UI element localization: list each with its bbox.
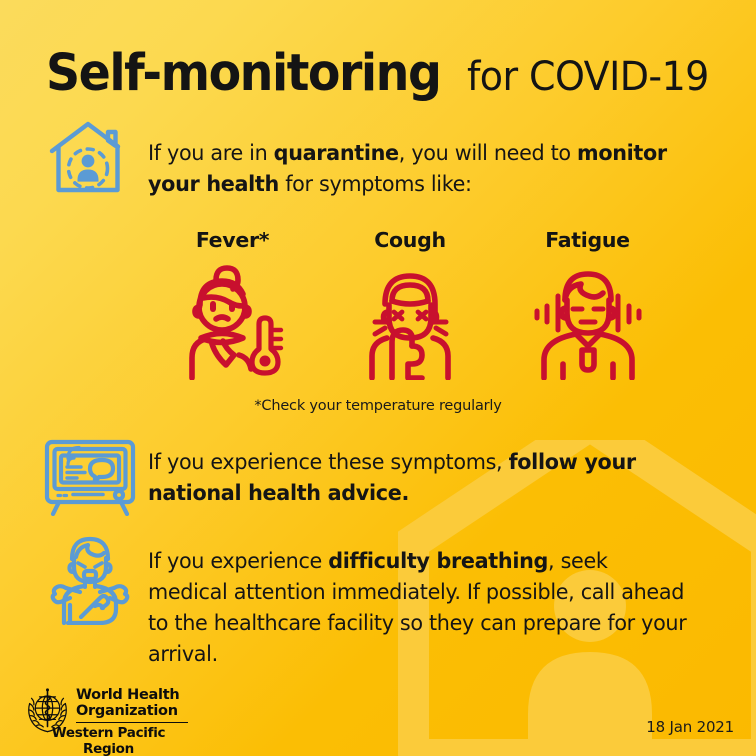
fever-footnote: *Check your temperature regularly bbox=[0, 398, 756, 414]
date-stamp: 18 Jan 2021 bbox=[646, 718, 734, 736]
who-region-label: Western Pacific Region bbox=[29, 725, 188, 756]
logo-divider bbox=[76, 722, 188, 724]
person-coughing-icon bbox=[354, 260, 466, 380]
title-light: for COVID-19 bbox=[467, 54, 709, 100]
who-logo: World Health Organization Western Pacifi… bbox=[24, 687, 188, 756]
page-title: Self-monitoringfor COVID-19 bbox=[46, 44, 726, 103]
person-fever-thermometer-icon bbox=[177, 260, 289, 380]
poster-canvas: Self-monitoringfor COVID-19 If you are i… bbox=[0, 0, 756, 756]
title-bold: Self-monitoring bbox=[46, 44, 440, 103]
who-name-line1: World Health bbox=[76, 688, 188, 704]
who-name-line2: Organization bbox=[76, 704, 188, 720]
row2-text: If you experience these symptoms, follow… bbox=[148, 447, 688, 509]
symptom-fatigue: Fatigue bbox=[505, 228, 670, 380]
symptom-label: Fever* bbox=[196, 228, 269, 252]
house-quarantine-icon bbox=[48, 120, 128, 196]
symptom-label: Fatigue bbox=[545, 228, 630, 252]
symptom-fever: Fever* bbox=[150, 228, 315, 380]
row1-text: If you are in quarantine, you will need … bbox=[148, 138, 708, 200]
person-fatigue-icon bbox=[532, 260, 644, 380]
symptom-cough: Cough bbox=[328, 228, 493, 380]
symptom-label: Cough bbox=[374, 228, 446, 252]
symptom-list: Fever* bbox=[150, 228, 670, 393]
tv-news-broadcast-icon bbox=[42, 436, 138, 516]
difficulty-breathing-person-icon bbox=[44, 533, 136, 625]
row3-text: If you experience difficulty breathing, … bbox=[148, 546, 688, 670]
